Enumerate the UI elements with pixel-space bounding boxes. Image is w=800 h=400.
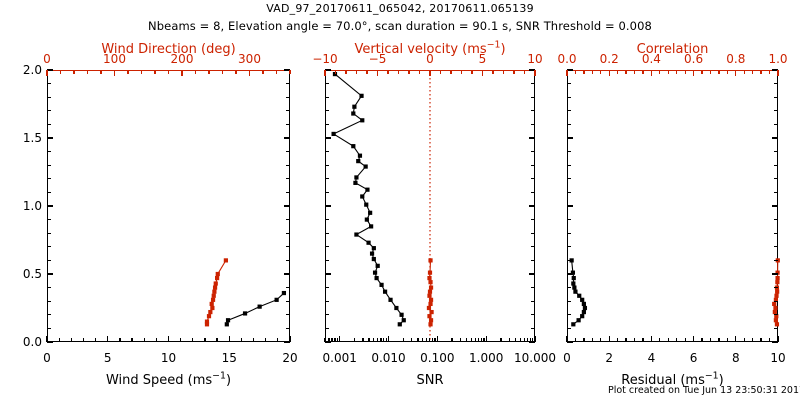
data-point <box>428 280 432 284</box>
data-point <box>213 286 217 290</box>
x-tick-bottom <box>475 338 476 342</box>
wind-direction-title-text: Wind Direction (deg) <box>101 42 235 57</box>
x-tick-bottom <box>769 338 770 342</box>
x-tick-top <box>141 70 142 74</box>
x-tick-bottom <box>710 338 711 342</box>
data-point <box>428 290 432 294</box>
x-tick-bottom <box>331 338 332 342</box>
y-tick <box>325 192 329 193</box>
x-tick-label-bottom: 0.010 <box>371 351 405 365</box>
x-tick-bottom <box>727 338 728 342</box>
x-tick-bottom <box>592 338 593 342</box>
x-tick-top <box>710 70 711 74</box>
x-tick-bottom <box>744 338 745 342</box>
x-tick-top <box>195 70 196 74</box>
x-tick-bottom <box>337 338 338 342</box>
y-tick <box>325 246 329 247</box>
data-point <box>428 302 432 306</box>
x-tick-top <box>575 70 576 74</box>
x-tick-top <box>651 70 652 76</box>
data-point <box>216 272 220 276</box>
y-tick <box>47 137 53 138</box>
data-point <box>364 164 368 168</box>
x-tick-top <box>46 70 47 76</box>
y-tick <box>531 151 535 152</box>
y-tick <box>772 273 778 274</box>
x-tick-bottom <box>617 338 618 342</box>
data-point <box>373 271 377 275</box>
y-tick <box>774 151 778 152</box>
x-tick-top <box>566 70 567 76</box>
y-tick <box>47 260 51 261</box>
y-tick <box>531 246 535 247</box>
x-tick-top <box>592 70 593 74</box>
y-tick <box>47 328 51 329</box>
y-tick <box>567 233 571 234</box>
data-point <box>428 258 432 262</box>
x-tick-bottom <box>192 338 193 342</box>
data-point <box>210 306 214 310</box>
y-tick <box>286 110 290 111</box>
x-tick-bottom <box>566 336 567 342</box>
y-tick <box>286 233 290 234</box>
x-tick-top <box>429 70 430 76</box>
x-tick-bottom <box>168 336 169 342</box>
data-point <box>427 294 431 298</box>
x-tick-bottom <box>524 338 525 342</box>
x-tick-bottom <box>388 336 389 342</box>
x-tick-bottom <box>466 338 467 342</box>
panel-wind-plot <box>47 70 290 342</box>
panel-residual: 02468100.00.20.40.60.81.0 <box>567 70 778 342</box>
x-tick-top <box>87 70 88 74</box>
y-tick <box>284 273 290 274</box>
x-tick-label-bottom: 6 <box>690 351 698 365</box>
data-point <box>571 281 575 285</box>
x-tick-bottom <box>362 338 363 342</box>
y-tick <box>47 97 51 98</box>
x-tick-bottom <box>651 336 652 342</box>
series-wind-speed <box>225 291 286 326</box>
data-point <box>211 298 215 302</box>
y-tick <box>567 301 571 302</box>
x-tick-label-bottom: 1.000 <box>469 351 503 365</box>
x-tick-top <box>461 70 462 74</box>
x-tick-label-bottom: 0 <box>563 351 571 365</box>
x-tick-bottom <box>460 338 461 342</box>
data-point <box>372 257 376 261</box>
x-tick-bottom <box>324 338 325 342</box>
series-line <box>227 293 284 324</box>
data-point <box>571 322 575 326</box>
y-tick <box>531 83 535 84</box>
x-tick-bottom <box>95 338 96 342</box>
x-tick-bottom <box>777 336 778 342</box>
x-tick-bottom <box>417 338 418 342</box>
y-tick <box>325 328 329 329</box>
x-tick-top <box>450 70 451 74</box>
data-point <box>573 290 577 294</box>
panel-residual-top-axis-title: Correlation <box>567 42 778 57</box>
x-tick-label-bottom: 4 <box>648 351 656 365</box>
x-tick-bottom <box>685 338 686 342</box>
data-point <box>775 276 779 280</box>
y-tick <box>531 178 535 179</box>
x-tick-top <box>634 70 635 74</box>
y-tick-label: 1.5 <box>23 131 42 145</box>
y-tick <box>325 287 329 288</box>
y-tick <box>567 137 573 138</box>
x-tick-top <box>534 70 535 76</box>
y-tick <box>47 110 51 111</box>
y-tick <box>567 124 571 125</box>
x-tick-bottom <box>432 338 433 342</box>
x-tick-top <box>60 70 61 74</box>
series-residual <box>570 258 587 326</box>
data-point <box>351 144 355 148</box>
data-point <box>212 290 216 294</box>
x-tick-top <box>685 70 686 74</box>
data-point <box>205 320 209 324</box>
x-tick-bottom <box>216 338 217 342</box>
x-tick-bottom <box>609 336 610 342</box>
data-point <box>775 280 779 284</box>
y-tick <box>47 301 51 302</box>
data-point <box>365 188 369 192</box>
y-tick <box>774 219 778 220</box>
y-tick-label: 0.5 <box>23 267 42 281</box>
y-tick <box>286 124 290 125</box>
y-tick <box>325 151 329 152</box>
panel-snr: 0.0010.0100.1001.00010.000−10−50510 <box>325 70 535 342</box>
y-tick <box>325 137 331 138</box>
x-tick-bottom <box>204 338 205 342</box>
y-tick <box>47 233 51 234</box>
data-point <box>366 241 370 245</box>
data-point <box>258 305 262 309</box>
x-tick-top <box>617 70 618 74</box>
y-tick <box>531 97 535 98</box>
y-tick <box>531 219 535 220</box>
x-tick-label-bottom: 0.001 <box>323 351 357 365</box>
x-tick-top <box>513 70 514 74</box>
y-tick-label: 2.0 <box>23 63 42 77</box>
y-tick <box>325 69 331 70</box>
x-tick-bottom <box>403 338 404 342</box>
x-tick-top <box>777 70 778 76</box>
x-tick-bottom <box>515 338 516 342</box>
y-tick <box>47 69 53 70</box>
y-tick <box>325 97 329 98</box>
x-tick-bottom <box>289 336 290 342</box>
y-tick <box>774 287 778 288</box>
y-tick <box>531 192 535 193</box>
y-tick <box>567 314 571 315</box>
x-tick-bottom <box>752 338 753 342</box>
panel-snr-bottom-axis-title: SNR <box>325 373 535 388</box>
y-tick <box>47 341 53 342</box>
data-point <box>353 181 357 185</box>
y-tick <box>774 178 778 179</box>
x-tick-top <box>208 70 209 74</box>
series-snr <box>332 72 406 326</box>
x-tick-top <box>154 70 155 74</box>
x-tick-bottom <box>583 338 584 342</box>
x-tick-label-bottom: 20 <box>282 351 297 365</box>
series-vertical-velocity <box>427 258 434 326</box>
y-tick <box>47 83 51 84</box>
y-tick <box>47 273 53 274</box>
x-tick-bottom <box>241 338 242 342</box>
x-tick-top <box>440 70 441 74</box>
figure-root: VAD_97_20170611_065042, 20170611.065139 … <box>0 0 800 400</box>
data-point <box>243 311 247 315</box>
x-tick-bottom <box>527 338 528 342</box>
y-tick <box>286 151 290 152</box>
y-tick <box>774 97 778 98</box>
figure-title: VAD_97_20170611_065042, 20170611.065139 <box>0 2 800 15</box>
x-tick-top <box>377 70 378 76</box>
x-tick-bottom <box>46 336 47 342</box>
x-tick-top <box>471 70 472 74</box>
data-point <box>207 314 211 318</box>
x-tick-label-bottom: 5 <box>104 351 112 365</box>
panel-residual-plot <box>567 70 778 342</box>
x-tick-top <box>693 70 694 76</box>
x-tick-label-bottom: 0 <box>43 351 51 365</box>
y-tick <box>529 137 535 138</box>
x-tick-bottom <box>83 338 84 342</box>
y-tick <box>284 205 290 206</box>
x-tick-bottom <box>534 336 535 342</box>
y-tick <box>531 287 535 288</box>
x-tick-bottom <box>760 338 761 342</box>
data-point <box>429 286 433 290</box>
y-tick <box>567 260 571 261</box>
x-tick-top <box>181 70 182 76</box>
y-tick <box>325 178 329 179</box>
panel-snr-top-axis-title: Vertical velocity (ms−1) <box>325 42 535 57</box>
data-point <box>773 306 777 310</box>
y-tick <box>531 110 535 111</box>
x-tick-bottom <box>481 338 482 342</box>
x-tick-top <box>249 70 250 76</box>
data-point <box>428 271 432 275</box>
data-point <box>429 318 433 322</box>
y-tick <box>567 69 573 70</box>
x-tick-bottom <box>500 338 501 342</box>
x-tick-top <box>735 70 736 76</box>
x-tick-bottom <box>383 338 384 342</box>
x-tick-top <box>335 70 336 74</box>
y-tick <box>286 328 290 329</box>
x-tick-bottom <box>676 338 677 342</box>
x-tick-label-bottom: 15 <box>222 351 237 365</box>
data-point <box>226 318 230 322</box>
x-tick-top <box>419 70 420 74</box>
x-tick-label-bottom: 8 <box>732 351 740 365</box>
x-tick-top <box>73 70 74 74</box>
data-point <box>429 298 433 302</box>
data-point <box>210 302 214 306</box>
data-point <box>354 175 358 179</box>
data-point <box>224 258 228 262</box>
series-line <box>334 74 404 324</box>
x-tick-top <box>222 70 223 74</box>
y-tick <box>531 165 535 166</box>
y-tick <box>567 192 571 193</box>
x-tick-top <box>760 70 761 74</box>
data-point <box>774 318 778 322</box>
x-tick-top <box>114 70 115 76</box>
x-tick-bottom <box>131 338 132 342</box>
x-tick-bottom <box>735 336 736 342</box>
data-point <box>402 318 406 322</box>
data-point <box>365 218 369 222</box>
data-point <box>394 306 398 310</box>
data-point <box>376 264 380 268</box>
x-tick-bottom <box>354 338 355 342</box>
y-tick <box>567 110 571 111</box>
data-point <box>582 302 586 306</box>
y-tick <box>286 287 290 288</box>
y-tick <box>531 233 535 234</box>
x-tick-bottom <box>520 338 521 342</box>
x-tick-bottom <box>71 338 72 342</box>
y-tick <box>567 151 571 152</box>
data-point <box>582 310 586 314</box>
x-tick-bottom <box>422 338 423 342</box>
x-tick-bottom <box>509 338 510 342</box>
y-tick <box>325 219 329 220</box>
data-point <box>427 314 431 318</box>
x-tick-bottom <box>642 338 643 342</box>
y-tick <box>47 314 51 315</box>
x-tick-bottom <box>386 338 387 342</box>
x-tick-top <box>492 70 493 74</box>
data-point <box>225 322 229 326</box>
y-tick <box>567 205 573 206</box>
x-tick-bottom <box>530 338 531 342</box>
x-tick-bottom <box>437 336 438 342</box>
x-tick-bottom <box>411 338 412 342</box>
data-point <box>359 94 363 98</box>
x-tick-bottom <box>156 338 157 342</box>
data-point <box>580 298 584 302</box>
y-tick <box>529 273 535 274</box>
x-tick-bottom <box>451 338 452 342</box>
x-tick-top <box>356 70 357 74</box>
y-tick <box>325 260 329 261</box>
x-tick-bottom <box>277 338 278 342</box>
x-tick-label-bottom: 0.100 <box>420 351 454 365</box>
x-tick-label-bottom: 10 <box>770 351 785 365</box>
x-tick-bottom <box>486 336 487 342</box>
x-tick-bottom <box>471 338 472 342</box>
y-tick <box>284 137 290 138</box>
x-tick-top <box>235 70 236 74</box>
y-tick <box>774 83 778 84</box>
x-tick-top <box>127 70 128 74</box>
x-tick-top <box>668 70 669 74</box>
x-tick-bottom <box>328 338 329 342</box>
data-point <box>358 154 362 158</box>
y-tick <box>47 151 51 152</box>
y-tick <box>286 246 290 247</box>
x-tick-label-bottom: 10 <box>161 351 176 365</box>
y-tick <box>529 205 535 206</box>
y-tick <box>774 233 778 234</box>
y-tick <box>567 97 571 98</box>
data-point <box>572 286 576 290</box>
y-tick <box>774 165 778 166</box>
data-point <box>772 302 776 306</box>
data-point <box>208 310 212 314</box>
y-tick <box>47 246 51 247</box>
data-point <box>372 246 376 250</box>
data-point <box>398 322 402 326</box>
x-tick-bottom <box>483 338 484 342</box>
y-tick <box>286 178 290 179</box>
x-tick-bottom <box>634 338 635 342</box>
data-point <box>364 203 368 207</box>
snr-title-text: SNR <box>416 373 443 388</box>
x-tick-bottom <box>426 338 427 342</box>
data-point <box>572 276 576 280</box>
y-tick <box>774 260 778 261</box>
y-tick <box>774 110 778 111</box>
x-tick-top <box>701 70 702 74</box>
x-tick-bottom <box>478 338 479 342</box>
y-tick-label: 1.0 <box>23 199 42 213</box>
panel-wind: 0.00.51.01.52.0051015200100200300 <box>47 70 290 342</box>
x-tick-bottom <box>701 338 702 342</box>
y-tick <box>772 137 778 138</box>
data-point <box>774 294 778 298</box>
x-tick-top <box>324 70 325 76</box>
x-tick-bottom <box>180 338 181 342</box>
y-tick <box>286 165 290 166</box>
y-tick <box>567 273 573 274</box>
y-tick <box>325 205 331 206</box>
x-tick-top <box>345 70 346 74</box>
data-point <box>275 298 279 302</box>
data-point <box>214 281 218 285</box>
y-tick <box>325 110 329 111</box>
y-tick <box>531 124 535 125</box>
data-point <box>388 298 392 302</box>
x-tick-bottom <box>368 338 369 342</box>
y-tick <box>567 178 571 179</box>
x-tick-top <box>600 70 601 74</box>
y-tick-label: 0.0 <box>23 335 42 349</box>
y-tick <box>325 301 329 302</box>
y-tick <box>531 328 535 329</box>
data-point <box>577 318 581 322</box>
figure-footer: Plot created on Tue Jun 13 23:50:31 2017 <box>608 385 800 396</box>
x-tick-bottom <box>339 336 340 342</box>
x-tick-top <box>583 70 584 74</box>
y-tick <box>774 192 778 193</box>
x-tick-top <box>752 70 753 74</box>
data-point <box>583 306 587 310</box>
x-tick-top <box>398 70 399 74</box>
x-tick-bottom <box>434 338 435 342</box>
y-tick <box>286 97 290 98</box>
x-tick-bottom <box>373 338 374 342</box>
series-wind-direction <box>205 258 228 326</box>
x-tick-top <box>503 70 504 74</box>
